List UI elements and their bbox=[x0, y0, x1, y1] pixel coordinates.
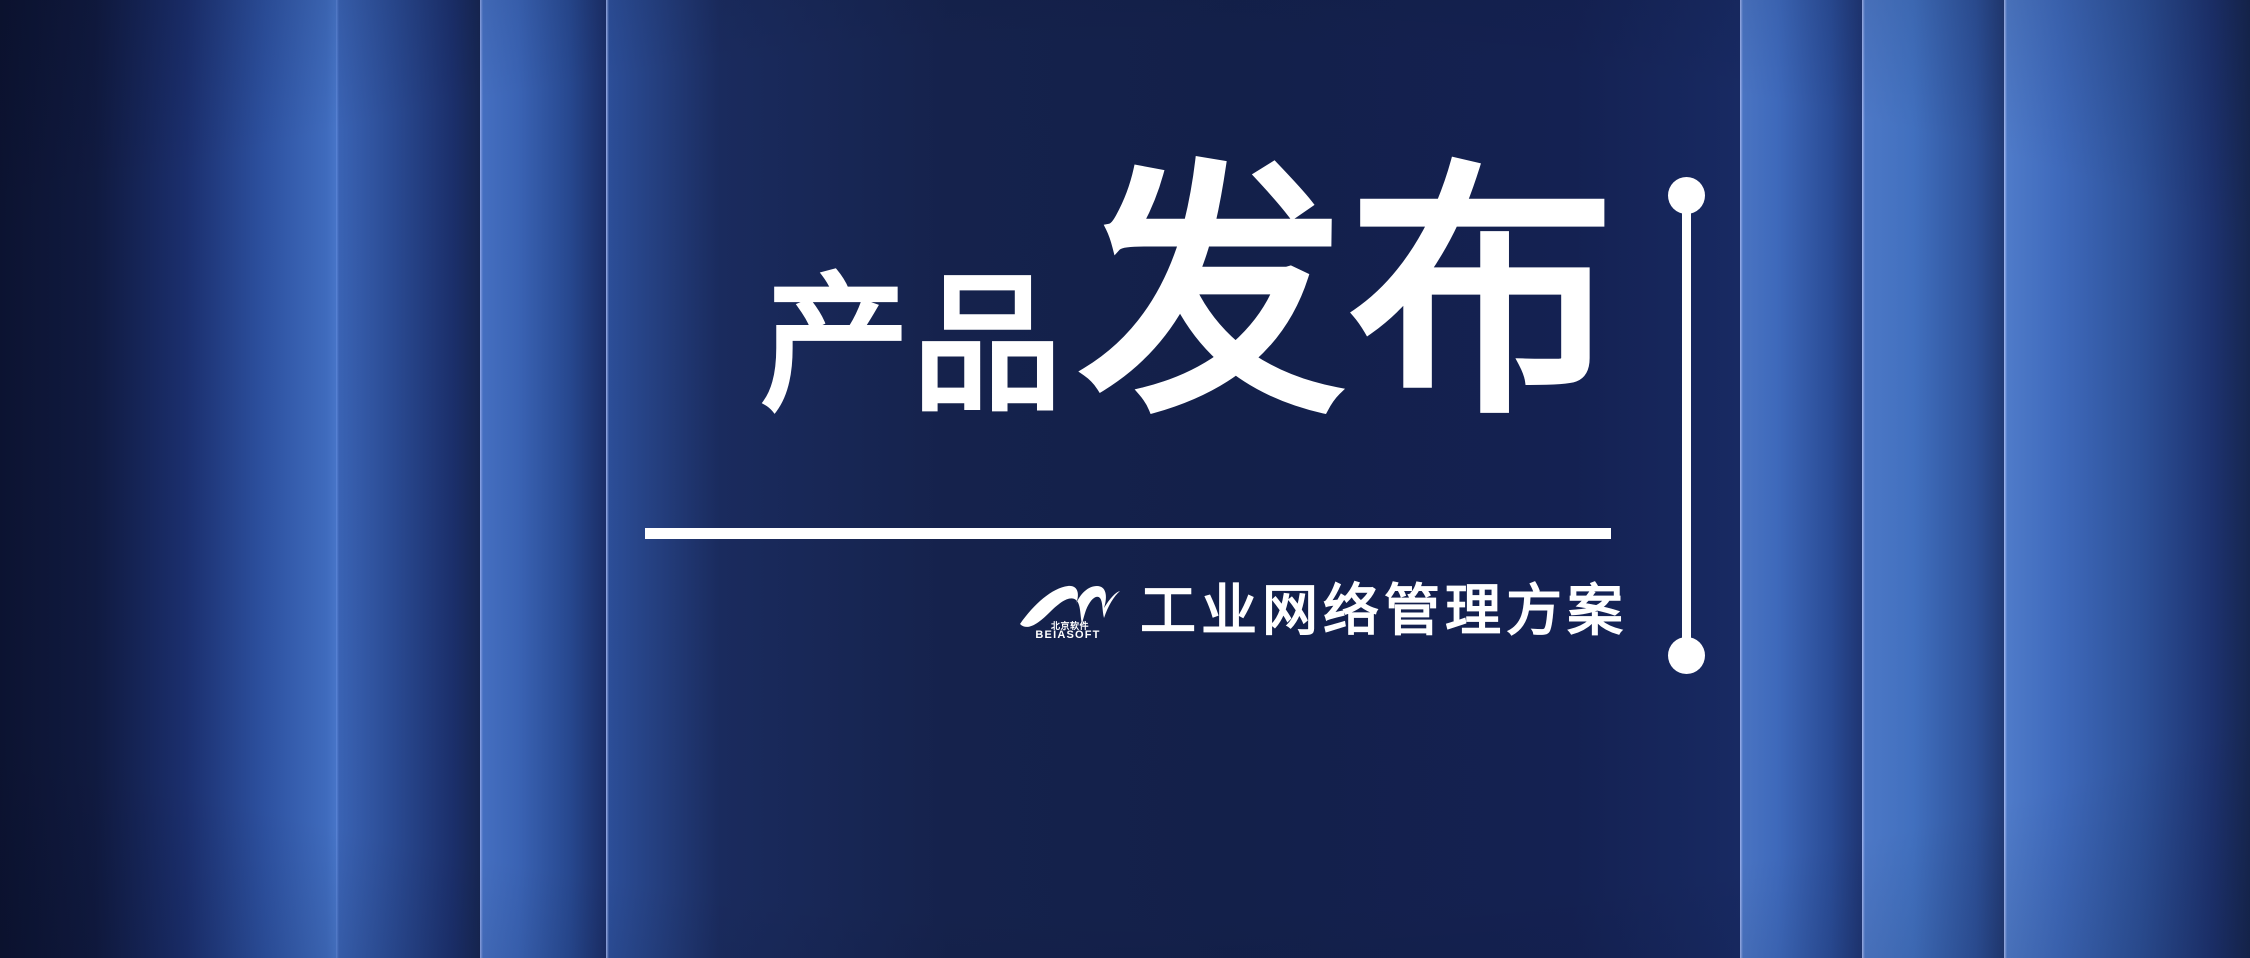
page-title: 产品 发布 bbox=[760, 160, 1618, 428]
title-emphasis-text: 发布 bbox=[1078, 160, 1618, 428]
slide-content: 产品 发布 北京软件 BEIASOFT 工业网络管理方案 bbox=[0, 0, 2250, 958]
title-divider-rule bbox=[645, 528, 1611, 539]
svg-text:BEIASOFT: BEIASOFT bbox=[1035, 629, 1100, 641]
slide-canvas: 产品 发布 北京软件 BEIASOFT 工业网络管理方案 bbox=[0, 0, 2250, 958]
subtitle-row: 北京软件 BEIASOFT 工业网络管理方案 bbox=[1018, 580, 1628, 642]
subtitle-text: 工业网络管理方案 bbox=[1140, 583, 1628, 639]
title-primary-text: 产品 bbox=[760, 270, 1064, 428]
wave-m-logo-icon: 北京软件 BEIASOFT bbox=[1018, 580, 1122, 642]
rail-dot-top-icon bbox=[1668, 177, 1705, 214]
vertical-rail-line bbox=[1682, 195, 1691, 657]
rail-dot-bottom-icon bbox=[1668, 637, 1705, 674]
